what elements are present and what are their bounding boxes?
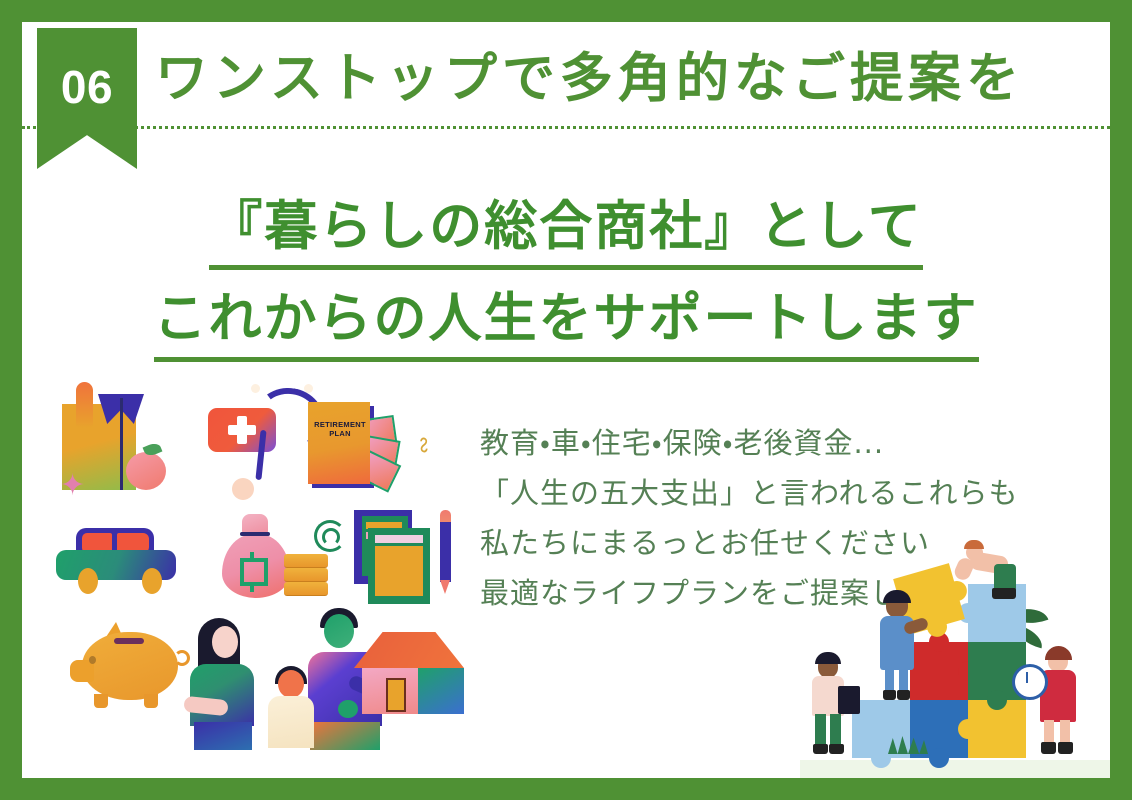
- house-door-icon: [386, 678, 406, 712]
- retirement-plan-label-line-2: PLAN: [312, 429, 368, 438]
- pen-icon: [440, 522, 451, 582]
- person-boot: [883, 690, 896, 700]
- pen-tip-icon: [440, 580, 450, 594]
- book-front-page-icon: [375, 546, 423, 596]
- family-mother-legs-icon: [194, 722, 252, 750]
- squiggle-icon: ∾: [412, 436, 434, 454]
- piggy-bank-leg-rear-icon: [144, 694, 158, 708]
- person-boot: [992, 588, 1016, 599]
- person-leg: [830, 714, 841, 746]
- house-roof-icon: [354, 632, 464, 668]
- person-hair: [815, 652, 841, 664]
- family-father-hand-icon: [338, 700, 358, 718]
- family-father-head-icon: [324, 614, 354, 648]
- spiral-icon: [314, 520, 346, 552]
- money-bag-tie-icon: [240, 532, 270, 536]
- headline-row-2: これからの人生をサポートします: [22, 284, 1110, 362]
- person-leg: [899, 668, 908, 692]
- person-boot: [813, 744, 828, 754]
- coin-1-icon: [284, 554, 328, 568]
- coin-3-icon: [284, 582, 328, 596]
- apple-icon: [126, 452, 166, 490]
- stethoscope-ear-left-icon: [251, 384, 260, 393]
- person-boot: [897, 690, 910, 700]
- section-number: 06: [61, 64, 113, 110]
- book-front-band-icon: [375, 535, 423, 543]
- person-boot: [829, 744, 844, 754]
- retirement-plan-label-line-1: RETIREMENT: [312, 420, 368, 429]
- teamwork-puzzle-illustration: [800, 528, 1110, 778]
- headline-line-1: 『暮らしの総合商社』として: [209, 192, 922, 270]
- money-bag-neck-icon: [242, 514, 268, 534]
- life-expenses-icon-cluster: RETIREMENT PLAN ∾: [62, 382, 482, 712]
- family-child-body-icon: [268, 696, 314, 748]
- stethoscope-bell-icon: [232, 478, 254, 500]
- puzzle-piece-middle-1: [910, 642, 968, 700]
- retirement-plan-label: RETIREMENT PLAN: [312, 420, 368, 439]
- medical-cross-bar-icon: [228, 425, 256, 435]
- section-number-ribbon: 06: [37, 28, 137, 169]
- car-wheel-front-icon: [78, 568, 98, 594]
- person-hair: [1045, 646, 1072, 660]
- person-boot: [1058, 742, 1073, 754]
- bag-handle-icon: [120, 398, 123, 490]
- headline-row-1: 『暮らしの総合商社』として: [22, 192, 1110, 270]
- piggy-bank-leg-front-icon: [94, 694, 108, 708]
- tablet-icon: [838, 686, 860, 714]
- puzzle-knob: [929, 748, 949, 768]
- slide-header: 06 ワンストップで多角的なご提案を: [22, 22, 1110, 172]
- stethoscope-ear-right-icon: [304, 384, 313, 393]
- family-child-head-icon: [278, 670, 304, 698]
- puzzle-knob: [945, 579, 970, 604]
- piggy-bank-slot-icon: [114, 638, 144, 644]
- coin-2-icon: [284, 568, 328, 582]
- piggy-bank-eye-icon: [89, 656, 96, 664]
- piggy-bank-tail-icon: [174, 650, 190, 666]
- person-leg: [885, 668, 894, 692]
- header-dotted-rule: [22, 126, 1110, 129]
- family-mother-body-icon: [190, 664, 254, 726]
- car-wheel-rear-icon: [142, 568, 162, 594]
- slide-frame: 06 ワンストップで多角的なご提案を 『暮らしの総合商社』として これからの人生…: [0, 0, 1132, 800]
- clock-icon: [1012, 664, 1048, 700]
- house-side-wall-icon: [418, 668, 464, 714]
- puzzle-knob: [871, 748, 891, 768]
- money-symbol-icon: [240, 558, 268, 586]
- retirement-plan-document-icon: [308, 402, 370, 484]
- puzzle-knob: [987, 690, 1007, 710]
- baguette-icon: [76, 382, 93, 428]
- person-leg: [815, 714, 826, 746]
- body-line-1: 教育・車・住宅・保険・老後資金...: [480, 419, 1080, 469]
- person-hair: [964, 540, 984, 549]
- person-boot: [1041, 742, 1056, 754]
- slide-canvas: 06 ワンストップで多角的なご提案を 『暮らしの総合商社』として これからの人生…: [22, 22, 1110, 778]
- body-line-2: 「人生の五大支出」と言われるこれらも: [480, 469, 1080, 519]
- headline-line-2: これからの人生をサポートします: [154, 284, 979, 362]
- ground-strip: [800, 760, 1110, 778]
- puzzle-knob: [958, 719, 978, 739]
- header-title: ワンストップで多角的なご提案を: [155, 50, 1024, 108]
- family-mother-face-icon: [212, 626, 238, 658]
- family-father-legs-icon: [310, 722, 380, 750]
- headline-block: 『暮らしの総合商社』として これからの人生をサポートします: [22, 192, 1110, 376]
